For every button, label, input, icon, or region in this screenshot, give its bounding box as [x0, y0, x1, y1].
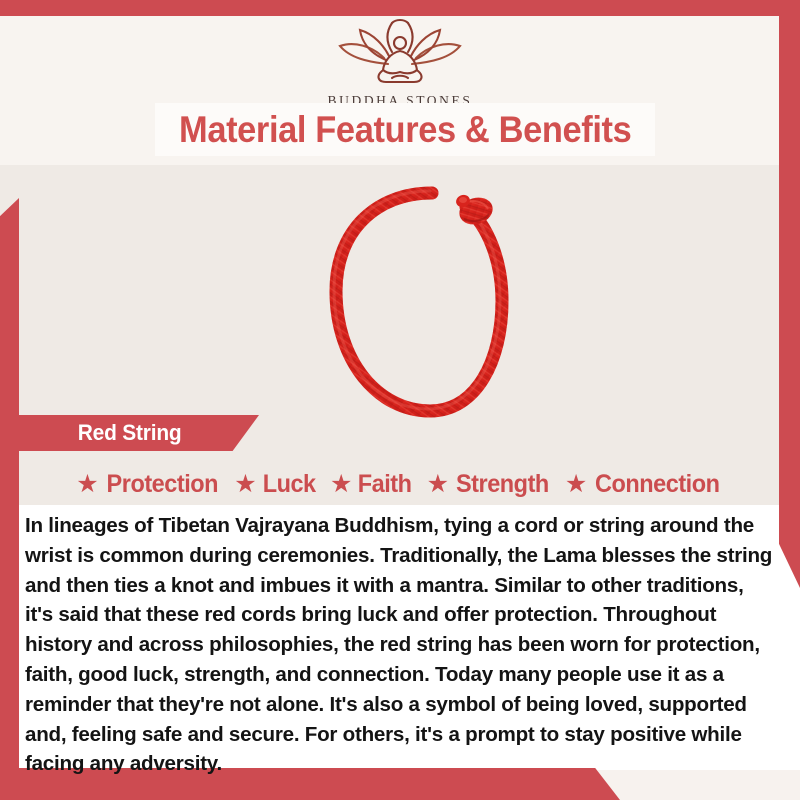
brand-logo: BUDDHA STONES: [0, 18, 800, 109]
feature-label: Luck: [262, 470, 315, 499]
product-name-banner: Red String: [19, 415, 259, 451]
feature-list: ★ Protection ★ Luck ★ Faith ★ Strength ★…: [0, 463, 800, 505]
description-text: In lineages of Tibetan Vajrayana Buddhis…: [25, 511, 773, 779]
page-title: Material Features & Benefits: [155, 103, 655, 156]
star-icon: ★: [427, 472, 449, 497]
product-name-label: Red String: [78, 420, 182, 446]
red-braided-cord-bracelet: [280, 175, 550, 435]
feature-item-strength: ★ Strength: [427, 470, 552, 499]
feature-item-connection: ★ Connection: [565, 470, 724, 499]
star-icon: ★: [76, 472, 98, 497]
feature-item-faith: ★ Faith: [330, 470, 414, 499]
feature-label: Connection: [595, 470, 720, 499]
page-title-text: Material Features & Benefits: [179, 109, 631, 151]
feature-label: Strength: [456, 470, 549, 499]
product-info-poster: BUDDHA STONES Material Features & Benefi…: [0, 0, 800, 800]
feature-item-luck: ★ Luck: [234, 470, 317, 499]
feature-label: Faith: [358, 470, 412, 499]
star-icon: ★: [565, 472, 587, 497]
feature-label: Protection: [106, 470, 218, 499]
star-icon: ★: [330, 472, 352, 497]
lotus-meditation-icon: [330, 18, 470, 88]
frame-accent-top: [0, 0, 800, 16]
feature-item-protection: ★ Protection: [76, 470, 221, 499]
star-icon: ★: [234, 472, 256, 497]
